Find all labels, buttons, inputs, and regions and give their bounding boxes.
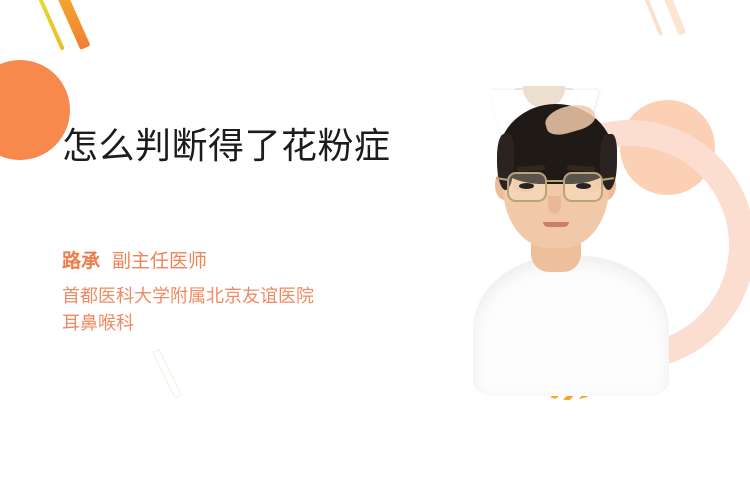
doctor-name: 路承	[62, 251, 100, 272]
doctor-info-block: 路承副主任医师 首都医科大学附属北京友谊医院 耳鼻喉科	[62, 248, 422, 337]
page-title: 怎么判断得了花粉症	[62, 122, 412, 170]
faint-stripe-b-icon	[657, 0, 686, 36]
green-stripe-icon	[36, 0, 65, 51]
mouth	[543, 222, 569, 227]
eye-left	[519, 183, 534, 189]
white-coat	[473, 256, 669, 396]
faint-stripe-a-icon	[640, 0, 663, 36]
doctor-department: 耳鼻喉科	[62, 310, 422, 337]
outline-stripe-icon	[152, 348, 182, 398]
video-cover-card: 怎么判断得了花粉症 路承副主任医师 首都医科大学附属北京友谊医院 耳鼻喉科	[0, 0, 750, 500]
doctor-hospital: 首都医科大学附属北京友谊医院	[62, 283, 422, 310]
doctor-portrait	[445, 88, 695, 390]
doctor-name-row: 路承副主任医师	[62, 248, 422, 276]
orange-stripe-icon	[52, 0, 91, 50]
orange-circle-icon	[0, 60, 70, 160]
nose	[548, 196, 561, 214]
doctor-professional-title: 副主任医师	[112, 251, 207, 272]
salmon-wave-lobe-shape	[470, 400, 750, 500]
eye-right	[576, 183, 591, 189]
glasses-bridge	[547, 180, 563, 182]
